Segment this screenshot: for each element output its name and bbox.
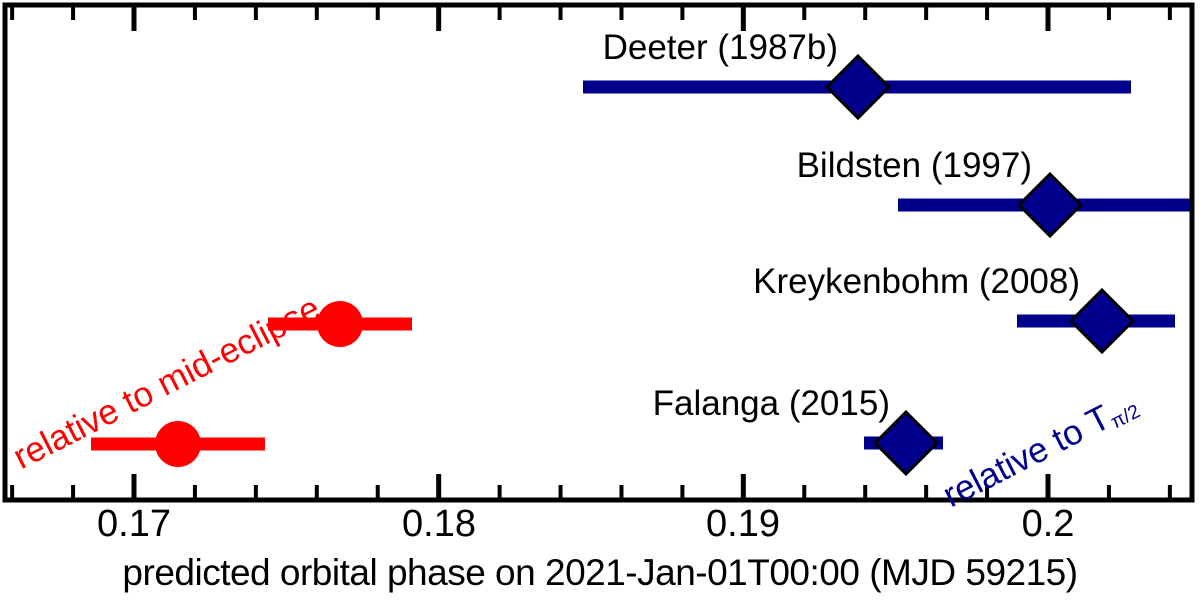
series-label-4: Falanga (2015) bbox=[653, 384, 890, 424]
x-tick-label-2: 0.18 bbox=[402, 503, 476, 546]
series-label-3: Kreykenbohm (2008) bbox=[753, 262, 1080, 302]
marker-diamond bbox=[1071, 290, 1133, 352]
series-label-2: Bildsten (1997) bbox=[797, 146, 1032, 186]
x-tick-label-4: 0.2 bbox=[1022, 503, 1075, 546]
x-axis-label: predicted orbital phase on 2021-Jan-01T0… bbox=[0, 552, 1200, 594]
plot-canvas bbox=[0, 0, 1200, 610]
x-tick-label-3: 0.19 bbox=[706, 503, 780, 546]
orbital-phase-figure: 0.170.180.190.2 Deeter (1987b)Bildsten (… bbox=[0, 0, 1200, 610]
series-label-1: Deeter (1987b) bbox=[603, 28, 838, 68]
marker-circle bbox=[155, 421, 201, 467]
x-tick-label-1: 0.17 bbox=[97, 503, 171, 546]
